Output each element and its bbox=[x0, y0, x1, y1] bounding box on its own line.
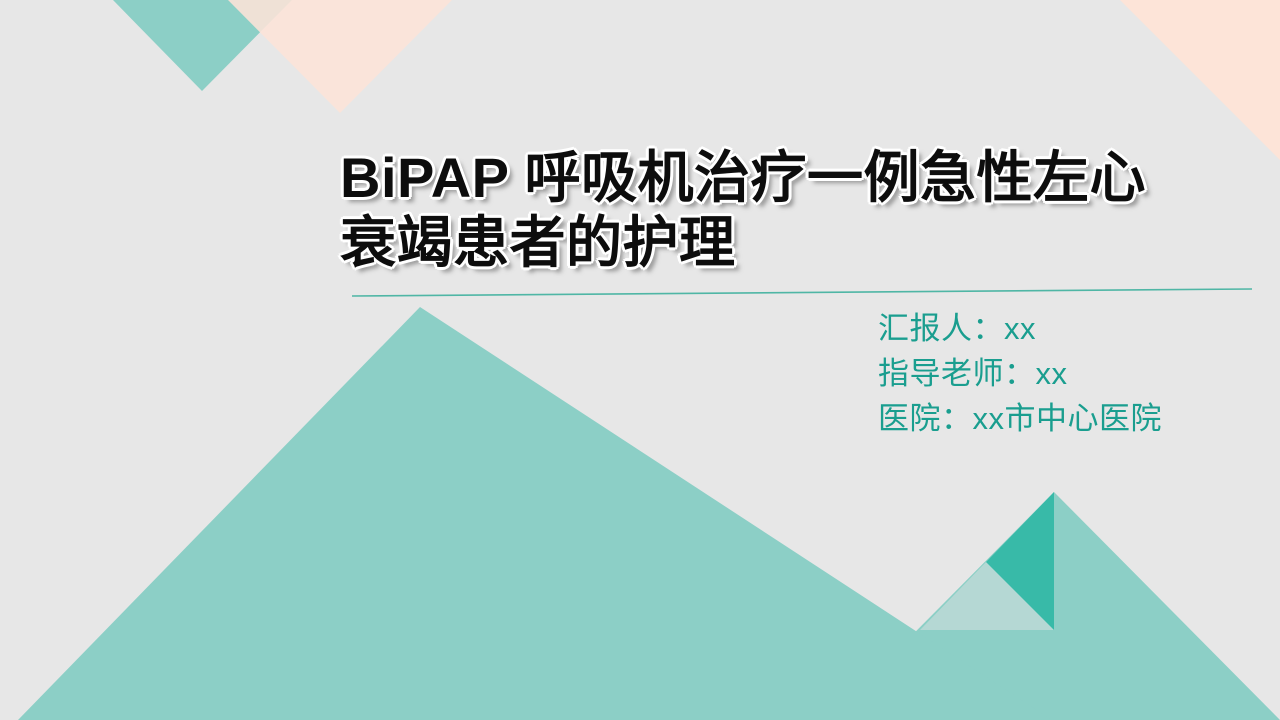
advisor-line: 指导老师：xx bbox=[878, 351, 1162, 396]
presentation-slide: BiPAP 呼吸机治疗一例急性左心衰竭患者的护理 汇报人：xx 指导老师：xx … bbox=[0, 0, 1280, 720]
page-title-line-2: 衰竭患者的护理 bbox=[340, 211, 736, 274]
title-block: BiPAP 呼吸机治疗一例急性左心衰竭患者的护理 bbox=[340, 146, 1260, 276]
top-peach-triangle bbox=[228, 0, 452, 113]
hospital-line: 医院：xx市中心医院 bbox=[878, 396, 1162, 441]
page-title-line-1: BiPAP 呼吸机治疗一例急性左心 bbox=[340, 146, 1146, 209]
page-title: BiPAP 呼吸机治疗一例急性左心衰竭患者的护理 bbox=[340, 146, 1260, 276]
presenter-line: 汇报人：xx bbox=[878, 306, 1162, 351]
subtitle-block: 汇报人：xx 指导老师：xx 医院：xx市中心医院 bbox=[878, 306, 1162, 441]
top-right-peach-triangle bbox=[1120, 0, 1280, 160]
title-divider bbox=[352, 283, 1252, 297]
